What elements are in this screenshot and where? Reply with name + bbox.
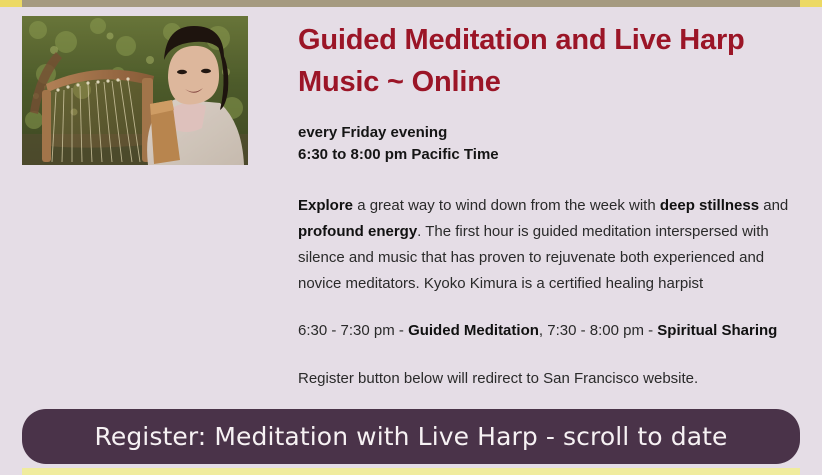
top-accent-strip-inner bbox=[22, 0, 800, 7]
event-description-bold-1: deep stillness bbox=[660, 197, 759, 214]
event-description: Explore a great way to wind down from th… bbox=[298, 166, 790, 297]
event-schedule-summary: every Friday evening 6:30 to 8:00 pm Pac… bbox=[298, 103, 790, 166]
event-description-part-1: a great way to wind down from the week w… bbox=[353, 197, 660, 214]
event-description-part-2: and bbox=[759, 197, 788, 214]
agenda-separator: , bbox=[539, 322, 547, 339]
page-title: Guided Meditation and Live Harp Music ~ … bbox=[298, 7, 790, 103]
event-when-line-2: 6:30 to 8:00 pm Pacific Time bbox=[298, 144, 790, 166]
event-when-line-1: every Friday evening bbox=[298, 122, 790, 144]
bottom-accent-strip bbox=[22, 468, 800, 475]
event-description-bold-2: profound energy bbox=[298, 223, 417, 240]
event-page: Guided Meditation and Live Harp Music ~ … bbox=[0, 7, 822, 468]
event-copy: Guided Meditation and Live Harp Music ~ … bbox=[298, 7, 790, 391]
agenda-time-1: 6:30 - 7:30 pm - bbox=[298, 322, 408, 339]
event-description-lead: Explore bbox=[298, 197, 353, 214]
harpist-photo bbox=[22, 16, 248, 165]
agenda-label-2: Spiritual Sharing bbox=[657, 322, 777, 339]
event-register-note: Register button below will redirect to S… bbox=[298, 343, 790, 391]
agenda-time-2: 7:30 - 8:00 pm - bbox=[547, 322, 657, 339]
top-accent-strip bbox=[0, 0, 822, 7]
register-button[interactable]: Register: Meditation with Live Harp - sc… bbox=[22, 409, 800, 464]
event-agenda: 6:30 - 7:30 pm - Guided Meditation, 7:30… bbox=[298, 297, 790, 343]
agenda-label-1: Guided Meditation bbox=[408, 322, 539, 339]
